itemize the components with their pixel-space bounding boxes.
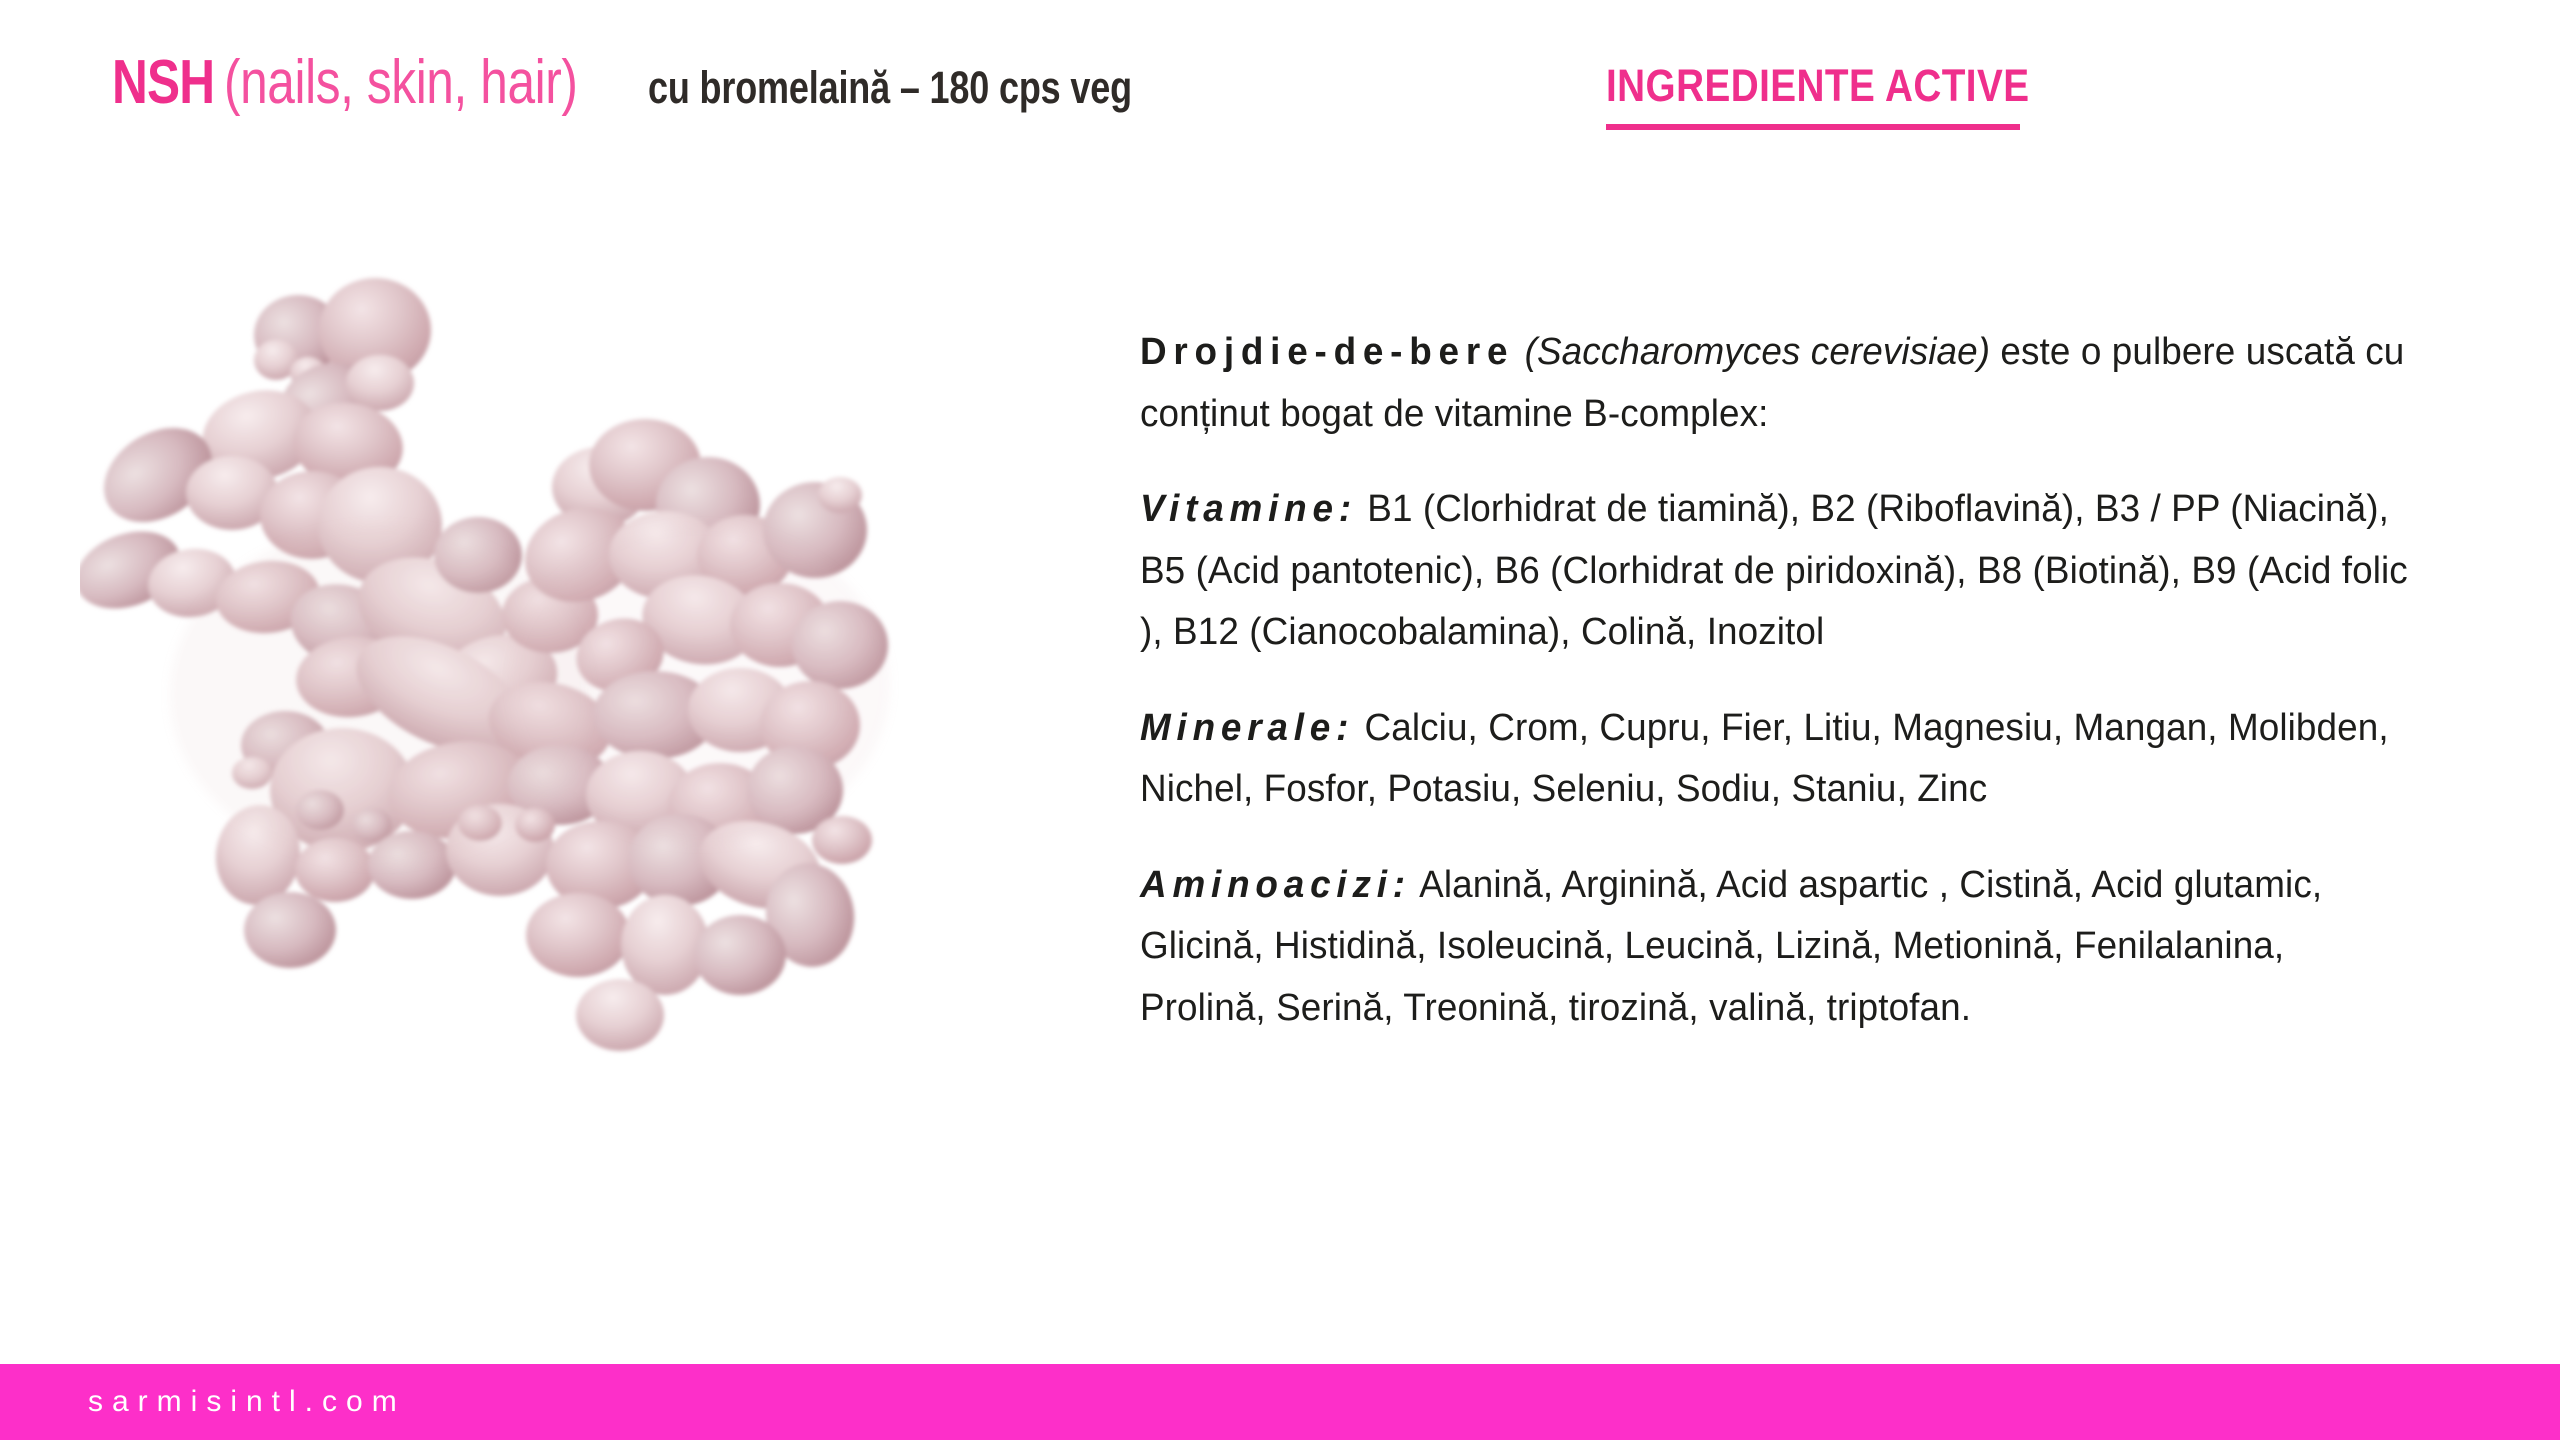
section-label-vitamine: Vitamine:	[1140, 488, 1357, 530]
yeast-cells-micrograph	[80, 225, 910, 1295]
intro-paragraph: Drojdie-de-bere (Saccharomyces cerevisia…	[1140, 322, 2411, 445]
product-name-expansion: (nails, skin, hair)	[224, 52, 577, 114]
section-heading: INGREDIENTE ACTIVE	[1606, 63, 2029, 108]
lead-term-drojdie-de-bere: Drojdie-de-bere	[1140, 331, 1514, 373]
yeast-cells-svg	[80, 225, 910, 1295]
scientific-name: (Saccharomyces cerevisiae)	[1525, 331, 1990, 373]
section-label-aminoacizi: Aminoacizi:	[1140, 864, 1411, 906]
footer-website-url[interactable]: sarmisintl.com	[88, 1385, 406, 1419]
section-aminoacizi: Aminoacizi: Alanină, Arginină, Acid aspa…	[1140, 855, 2411, 1040]
section-heading-container: INGREDIENTE ACTIVE	[1606, 63, 2098, 108]
footer-bar: sarmisintl.com	[0, 1364, 2560, 1440]
section-vitamine: Vitamine: B1 (Clorhidrat de tiamină), B2…	[1140, 479, 2411, 664]
ingredients-content: Drojdie-de-bere (Saccharomyces cerevisia…	[1140, 322, 2450, 1039]
product-name-abbr: NSH	[112, 52, 214, 114]
section-minerale: Minerale: Calciu, Crom, Cupru, Fier, Lit…	[1140, 698, 2411, 821]
product-details: cu bromelaină – 180 cps veg	[648, 65, 1132, 110]
section-label-minerale: Minerale:	[1140, 707, 1354, 749]
page-header: NSH(nails, skin, hair)cu bromelaină – 18…	[0, 0, 2560, 170]
page-title: NSH(nails, skin, hair)cu bromelaină – 18…	[112, 52, 1253, 114]
section-heading-underline	[1606, 124, 2020, 130]
